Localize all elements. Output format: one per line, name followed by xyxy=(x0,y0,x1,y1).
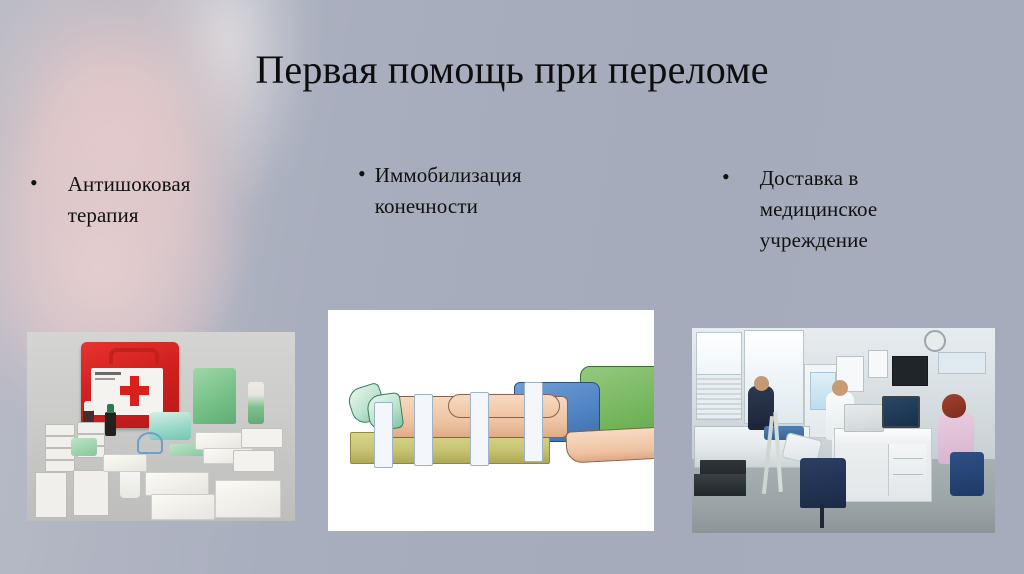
presentation-slide: Первая помощь при переломе • Антишоковая… xyxy=(0,0,1024,574)
leg-splint-illustration xyxy=(328,310,654,531)
bullet-item-immobilization: • Иммобилизация конечности xyxy=(358,160,658,222)
case-label xyxy=(91,368,163,415)
bullet-text: Иммобилизация конечности xyxy=(375,160,605,222)
green-gauze xyxy=(71,438,97,456)
bullet-marker-icon: • xyxy=(30,169,38,197)
medicine-bottle xyxy=(105,412,116,436)
bullet-text: Доставка в медицинское учреждение xyxy=(760,163,945,256)
bandage-strap xyxy=(414,394,433,466)
plaster-strip xyxy=(45,460,75,472)
wall-chart xyxy=(868,350,888,378)
pill-blister xyxy=(241,428,283,448)
scissors-icon xyxy=(137,432,163,454)
patient-head xyxy=(754,376,769,391)
printer xyxy=(844,404,884,432)
sterile-pack xyxy=(215,480,281,518)
bandage-strap xyxy=(374,402,393,468)
bullet-marker-icon: • xyxy=(358,160,366,188)
bullet-item-transport: • Доставка в медицинское учреждение xyxy=(722,163,997,256)
pill-blister xyxy=(35,472,67,518)
green-package xyxy=(193,368,236,424)
step-stool xyxy=(694,474,746,496)
clinic-room-photo xyxy=(692,328,995,533)
computer-monitor xyxy=(882,396,920,428)
plaster-strip xyxy=(45,424,75,436)
spray-bottle xyxy=(248,382,264,424)
person-arm xyxy=(565,424,654,463)
wall-display-panel xyxy=(892,356,928,386)
person-arm-upper xyxy=(448,394,560,418)
sterile-pack xyxy=(145,472,209,496)
bandage-strap xyxy=(470,392,489,466)
bullet-item-antishock: • Антишоковая терапия xyxy=(30,169,330,231)
bandage-strap xyxy=(524,382,543,462)
sterile-pack xyxy=(103,454,147,472)
label-text-line xyxy=(95,378,115,380)
desk-drawers xyxy=(888,444,927,496)
pill-blister xyxy=(73,470,109,516)
chair-leg xyxy=(820,504,824,528)
case-handle xyxy=(109,348,159,364)
first-aid-kit-photo xyxy=(27,332,295,521)
visitor-chair xyxy=(800,458,846,508)
wall-whiteboard xyxy=(938,352,986,374)
pill-blister xyxy=(233,450,275,472)
plaster-strip xyxy=(77,422,105,434)
sterile-pack xyxy=(151,494,215,520)
receptionist-head xyxy=(942,394,966,418)
red-cross-icon xyxy=(120,386,149,395)
wall-clock-icon xyxy=(924,330,946,352)
doctor-head xyxy=(832,380,848,396)
office-chair xyxy=(950,452,984,496)
bullet-marker-icon: • xyxy=(722,163,730,191)
label-text-line xyxy=(95,372,121,375)
window-blinds xyxy=(696,374,742,420)
bullet-text: Антишоковая терапия xyxy=(68,169,258,231)
